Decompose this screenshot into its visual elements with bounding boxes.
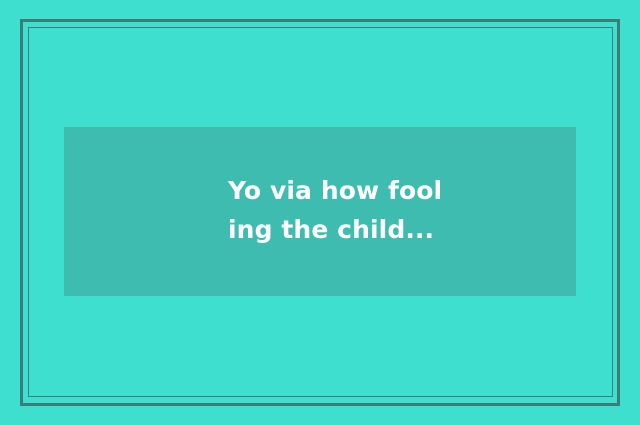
caption-line-1: Yo via how fool <box>228 171 568 210</box>
caption-line-2: ing the child... <box>228 210 568 249</box>
caption-panel: Yo via how fool ing the child... <box>64 127 576 296</box>
caption-text-block: Yo via how fool ing the child... <box>228 171 568 249</box>
poster-canvas: Yo via how fool ing the child... <box>0 0 640 425</box>
